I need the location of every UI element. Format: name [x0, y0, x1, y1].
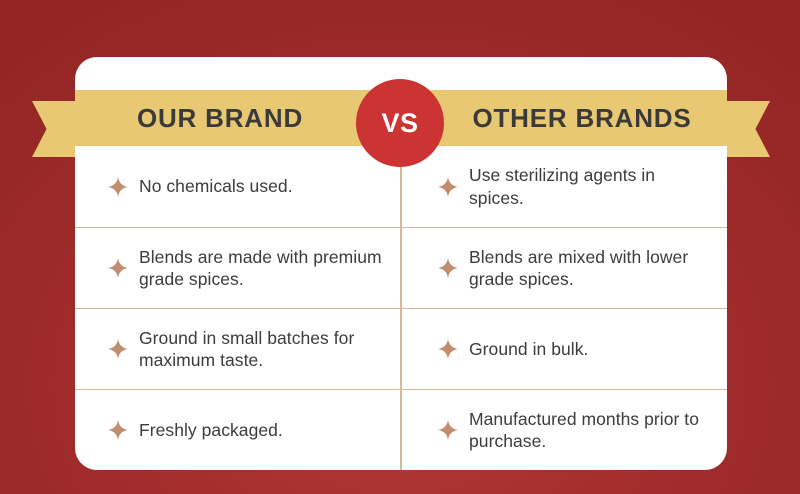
four-point-star-icon [437, 176, 459, 198]
cell-text: Blends are mixed with lower grade spices… [469, 246, 713, 291]
four-point-star-icon [107, 176, 129, 198]
cell-text: Blends are made with premium grade spice… [139, 246, 387, 291]
cell-other-brands-3: Ground in bulk. [401, 309, 727, 389]
four-point-star-icon [107, 338, 129, 360]
cell-our-brand-1: No chemicals used. [75, 146, 401, 227]
comparison-card: OUR BRAND OTHER BRANDS VS No chemicals u… [75, 57, 727, 470]
four-point-star-icon [437, 257, 459, 279]
cell-our-brand-4: Freshly packaged. [75, 390, 401, 470]
cell-other-brands-4: Manufactured months prior to purchase. [401, 390, 727, 470]
cell-text: Use sterilizing agents in spices. [469, 164, 713, 209]
cell-other-brands-2: Blends are mixed with lower grade spices… [401, 228, 727, 308]
cell-text: Manufactured months prior to purchase. [469, 408, 713, 453]
our-brand-title: OUR BRAND [75, 90, 365, 146]
infographic-canvas: OUR BRAND OTHER BRANDS VS No chemicals u… [0, 0, 800, 494]
cell-other-brands-1: Use sterilizing agents in spices. [401, 146, 727, 227]
four-point-star-icon [107, 257, 129, 279]
comparison-grid: No chemicals used. Use sterilizing agent… [75, 146, 727, 470]
vs-badge: VS [356, 79, 444, 167]
four-point-star-icon [437, 419, 459, 441]
cell-text: Freshly packaged. [139, 419, 283, 441]
four-point-star-icon [107, 419, 129, 441]
cell-text: Ground in small batches for maximum tast… [139, 327, 387, 372]
cell-text: No chemicals used. [139, 175, 293, 197]
cell-text: Ground in bulk. [469, 338, 588, 360]
cell-our-brand-3: Ground in small batches for maximum tast… [75, 309, 401, 389]
four-point-star-icon [437, 338, 459, 360]
other-brands-title: OTHER BRANDS [437, 90, 727, 146]
cell-our-brand-2: Blends are made with premium grade spice… [75, 228, 401, 308]
column-divider [400, 146, 402, 470]
